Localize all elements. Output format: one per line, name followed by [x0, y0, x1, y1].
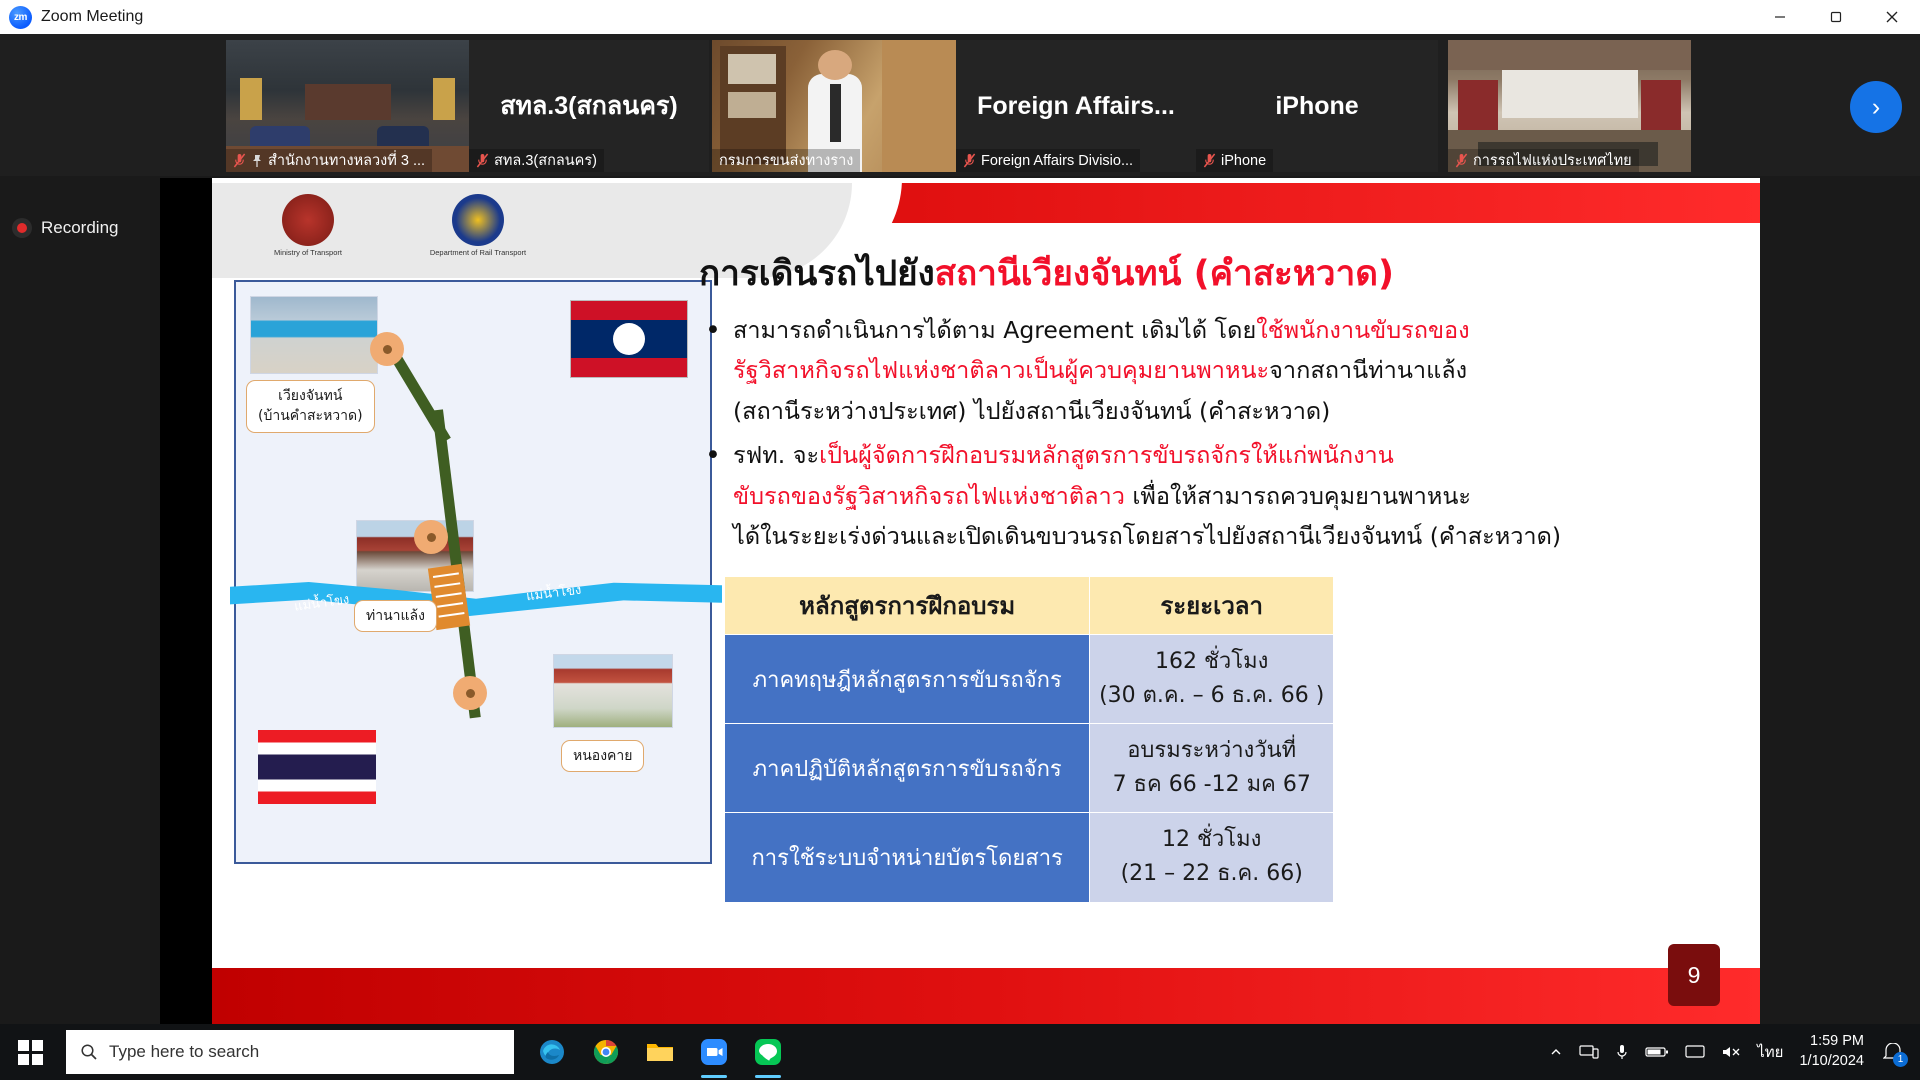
slide-bullets: สามารถดำเนินการได้ตาม Agreement เดิมได้ … [699, 310, 1739, 560]
participant-name: กรมการขนส่งทางราง [719, 149, 853, 172]
table-header-course: หลักสูตรการฝึกอบรม [725, 577, 1090, 635]
text-segment: เพื่อให้สามารถควบคุมยานพาหนะ [1125, 482, 1471, 510]
logo-ministry-of-transport: Ministry of Transport [248, 194, 368, 257]
google-chrome-icon[interactable] [586, 1032, 626, 1072]
zoom-meeting-window: สำนักงานทางหลวงที่ 3 ... สทล.3(สกลนคร) ส… [0, 34, 1920, 1024]
vientiane-station-photo [250, 296, 378, 374]
participant-namebar: กรมการขนส่งทางราง [712, 149, 860, 172]
table-cell-duration: อบรมระหว่างวันที่ 7 ธค 66 -12 มค 67 [1090, 724, 1334, 813]
mic-muted-icon [476, 153, 489, 168]
text-segment: (สถานีระหว่างประเทศ) ไปยังสถานีเวียงจันท… [733, 397, 1330, 425]
pin-icon [251, 154, 263, 168]
file-explorer-icon[interactable] [640, 1032, 680, 1072]
text-segment: รฟท. จะ [733, 441, 819, 469]
lao-flag-icon [570, 300, 688, 378]
duration-line-2: (21 – 22 ธ.ค. 66) [1098, 857, 1325, 891]
text-segment: รัฐวิสาหกิจรถไฟแห่งชาติลาวเป็นผู้ควบคุมย… [733, 356, 1269, 384]
slide-bottom-band [212, 968, 1760, 1024]
participant-name: สทล.3(สกลนคร) [494, 149, 597, 172]
next-participants-button[interactable]: › [1850, 81, 1902, 133]
participant-tile[interactable]: iPhone iPhone [1196, 40, 1438, 172]
window-titlebar: zm Zoom Meeting [0, 0, 1920, 34]
taskbar-search-box[interactable]: Type here to search [66, 1030, 514, 1074]
rail-department-seal-icon [452, 194, 504, 246]
close-icon[interactable] [1864, 0, 1920, 34]
station-node-thanaleng [414, 520, 448, 554]
slide-logos: Ministry of Transport Department of Rail… [248, 194, 538, 257]
battery-icon[interactable] [1645, 1045, 1669, 1059]
zoom-logo-icon: zm [9, 6, 32, 29]
table-cell-duration: 12 ชั่วโมง (21 – 22 ธ.ค. 66) [1090, 813, 1334, 902]
table-cell-duration: 162 ชั่วโมง (30 ต.ค. – 6 ธ.ค. 66 ) [1090, 635, 1334, 724]
mic-muted-icon [1203, 153, 1216, 168]
participant-filmstrip[interactable]: สำนักงานทางหลวงที่ 3 ... สทล.3(สกลนคร) ส… [0, 34, 1920, 176]
table-row: ภาคปฏิบัติหลักสูตรการขับรถจักร อบรมระหว่… [725, 724, 1334, 813]
map-label-line1: เวียงจันทน์ [258, 386, 363, 406]
map-label-line1: หนองคาย [573, 746, 632, 766]
duration-line-1: อบรมระหว่างวันที่ [1098, 734, 1325, 768]
clock-time: 1:59 PM [1799, 1032, 1864, 1052]
microsoft-edge-icon[interactable] [532, 1032, 572, 1072]
station-node-vientiane [370, 332, 404, 366]
display-icon[interactable] [1685, 1044, 1705, 1060]
table-cell-course: ภาคทฤษฎีหลักสูตรการขับรถจักร [725, 635, 1090, 724]
minimize-icon[interactable] [1752, 0, 1808, 34]
participant-name: Foreign Affairs Divisio... [981, 153, 1133, 169]
table-header-duration: ระยะเวลา [1090, 577, 1334, 635]
participant-name: สำนักงานทางหลวงที่ 3 ... [268, 149, 425, 172]
notification-center-icon[interactable]: 1 [1880, 1039, 1906, 1065]
slide-title-red: สถานีเวียงจันทน์ (คำสะหวาด) [935, 254, 1394, 294]
logo-caption: Department of Rail Transport [418, 249, 538, 257]
logo-department-of-rail-transport: Department of Rail Transport [418, 194, 538, 257]
bullet-line: ขับรถของรัฐวิสาหกิจรถไฟแห่งชาติลาว เพื่อ… [733, 476, 1739, 516]
text-segment: เป็นผู้จัดการฝึกอบรมหลักสูตรการขับรถจักร… [819, 441, 1394, 469]
text-segment: ขับรถของรัฐวิสาหกิจรถไฟแห่งชาติลาว [733, 482, 1125, 510]
slide-title: การเดินรถไปยังสถานีเวียงจันทน์ (คำสะหวาด… [699, 254, 1739, 294]
map-label-thanaleng: ท่านาแล้ง [354, 600, 437, 632]
route-map-diagram: แม่น้ำโขง แม่น้ำโขง เวียงจันทน์ (บ้านคำส… [234, 280, 712, 864]
participant-tile[interactable]: สทล.3(สกลนคร) สทล.3(สกลนคร) [469, 40, 709, 172]
table-cell-course: ภาคปฏิบัติหลักสูตรการขับรถจักร [725, 724, 1090, 813]
text-segment: สามารถดำเนินการได้ตาม Agreement เดิมได้ … [733, 316, 1256, 344]
slide-title-black: การเดินรถไปยัง [699, 254, 935, 294]
duration-line-2: (30 ต.ค. – 6 ธ.ค. 66 ) [1098, 679, 1325, 713]
recording-indicator[interactable]: Recording [12, 218, 119, 238]
duration-line-1: 12 ชั่วโมง [1098, 823, 1325, 857]
slide-page-number: 9 [1668, 944, 1720, 1006]
bullet-line: (สถานีระหว่างประเทศ) ไปยังสถานีเวียงจันท… [733, 391, 1739, 431]
bullet-item: สามารถดำเนินการได้ตาม Agreement เดิมได้ … [699, 310, 1739, 431]
nongkhai-station-photo [553, 654, 673, 728]
map-label-line2: (บ้านคำสะหวาด) [258, 406, 363, 426]
language-indicator[interactable]: ไทย [1757, 1040, 1783, 1064]
bullet-line: สามารถดำเนินการได้ตาม Agreement เดิมได้ … [733, 310, 1739, 350]
presentation-slide: Ministry of Transport Department of Rail… [212, 178, 1760, 1024]
record-dot-icon [12, 218, 32, 238]
system-tray[interactable]: ไทย 1:59 PM 1/10/2024 1 [1549, 1032, 1920, 1071]
zoom-icon[interactable] [694, 1032, 734, 1072]
notification-count-badge: 1 [1893, 1052, 1908, 1067]
table-row: ภาคทฤษฎีหลักสูตรการขับรถจักร 162 ชั่วโมง… [725, 635, 1334, 724]
chevron-right-icon: › [1872, 95, 1880, 120]
window-title: Zoom Meeting [41, 8, 143, 26]
bullet-line: รัฐวิสาหกิจรถไฟแห่งชาติลาวเป็นผู้ควบคุมย… [733, 350, 1739, 390]
participant-name: การรถไฟแห่งประเทศไทย [1473, 149, 1632, 172]
windows-taskbar[interactable]: Type here to search [0, 1024, 1920, 1080]
volume-muted-icon[interactable] [1721, 1044, 1741, 1060]
participant-namebar: สำนักงานทางหลวงที่ 3 ... [226, 149, 432, 172]
logo-caption: Ministry of Transport [248, 249, 368, 257]
station-node-nongkhai [453, 676, 487, 710]
mic-muted-icon [963, 153, 976, 168]
bullet-item: รฟท. จะเป็นผู้จัดการฝึกอบรมหลักสูตรการขั… [699, 435, 1739, 556]
participant-tile[interactable]: การรถไฟแห่งประเทศไทย [1448, 40, 1691, 172]
duration-line-2: 7 ธค 66 -12 มค 67 [1098, 768, 1325, 802]
participant-namebar: การรถไฟแห่งประเทศไทย [1448, 149, 1639, 172]
maximize-icon[interactable] [1808, 0, 1864, 34]
clock-date: 1/10/2024 [1799, 1052, 1864, 1072]
mic-muted-icon [1455, 153, 1468, 168]
table-row: การใช้ระบบจำหน่ายบัตรโดยสาร 12 ชั่วโมง (… [725, 813, 1334, 902]
text-segment: จากสถานีท่านาแล้ง [1269, 356, 1467, 384]
bullet-line: รฟท. จะเป็นผู้จัดการฝึกอบรมหลักสูตรการขั… [733, 435, 1739, 475]
participant-tile[interactable]: Foreign Affairs... Foreign Affairs Divis… [956, 40, 1196, 172]
participant-tile[interactable]: กรมการขนส่งทางราง [712, 40, 956, 172]
bullet-line: ได้ในระยะเร่งด่วนและเปิดเดินขบวนรถโดยสาร… [733, 516, 1739, 556]
map-label-line1: ท่านาแล้ง [366, 606, 425, 626]
shared-screen-area: Ministry of Transport Department of Rail… [160, 178, 1760, 1024]
devices-icon[interactable] [1579, 1044, 1599, 1060]
table-cell-course: การใช้ระบบจำหน่ายบัตรโดยสาร [725, 813, 1090, 902]
map-label-nongkhai: หนองคาย [561, 740, 644, 772]
mic-muted-icon [233, 153, 246, 168]
participant-namebar: iPhone [1196, 149, 1273, 172]
recording-label: Recording [41, 218, 119, 238]
taskbar-apps[interactable] [532, 1032, 788, 1072]
participant-namebar: สทล.3(สกลนคร) [469, 149, 604, 172]
text-segment: ใช้พนักงานขับรถของ [1256, 316, 1469, 344]
taskbar-clock[interactable]: 1:59 PM 1/10/2024 [1799, 1032, 1864, 1071]
window-controls [1752, 0, 1920, 34]
show-hidden-icons-icon[interactable] [1549, 1045, 1563, 1059]
participant-name: iPhone [1221, 153, 1266, 169]
windows-start-icon[interactable] [0, 1024, 60, 1080]
search-input[interactable]: Type here to search [109, 1042, 259, 1062]
text-segment: ได้ในระยะเร่งด่วนและเปิดเดินขบวนรถโดยสาร… [733, 522, 1561, 550]
map-label-vientiane: เวียงจันทน์ (บ้านคำสะหวาด) [246, 380, 375, 433]
participant-tile[interactable]: สำนักงานทางหลวงที่ 3 ... [226, 40, 469, 172]
search-icon [80, 1043, 98, 1061]
training-course-table: หลักสูตรการฝึกอบรม ระยะเวลา ภาคทฤษฎีหลัก… [724, 576, 1334, 903]
line-icon[interactable] [748, 1032, 788, 1072]
duration-line-1: 162 ชั่วโมง [1098, 645, 1325, 679]
table-header-row: หลักสูตรการฝึกอบรม ระยะเวลา [725, 577, 1334, 635]
participant-namebar: Foreign Affairs Divisio... [956, 149, 1140, 172]
ministry-seal-icon [282, 194, 334, 246]
thailand-flag-icon [258, 730, 376, 804]
microphone-icon[interactable] [1615, 1043, 1629, 1061]
